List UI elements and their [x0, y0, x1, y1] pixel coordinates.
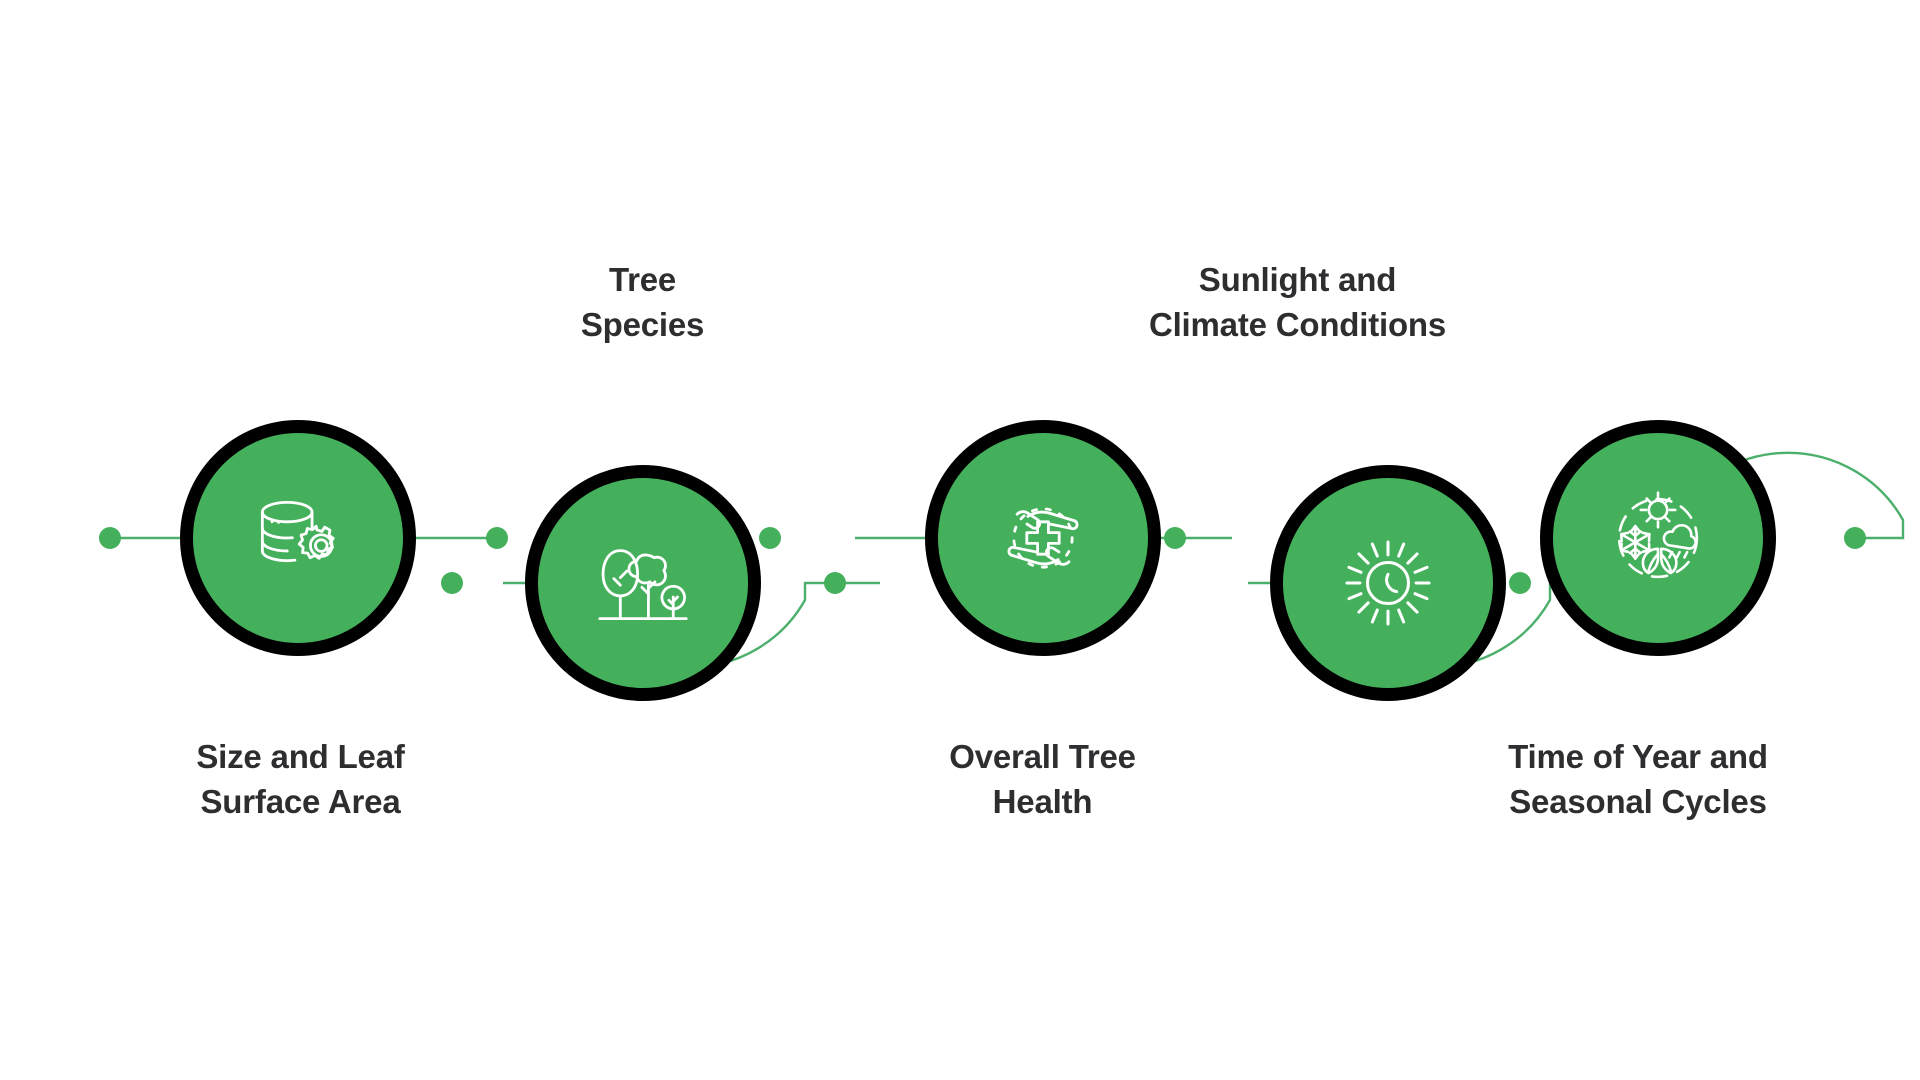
caring-hands-health-icon [989, 484, 1097, 592]
step-node-1[interactable] [180, 420, 416, 656]
trees-icon [589, 529, 697, 637]
database-gear-icon [244, 484, 352, 592]
infographic-canvas: Size and Leaf Surface Area Tree Specie [0, 0, 1920, 1080]
sun-icon [1334, 529, 1442, 637]
connector-dot-2-upper [759, 527, 781, 549]
step-node-5[interactable] [1540, 420, 1776, 656]
step-node-4[interactable] [1270, 465, 1506, 701]
step-node-2[interactable] [525, 465, 761, 701]
connector-dot-4-lower [1509, 572, 1531, 594]
step-label-5: Time of Year and Seasonal Cycles [1438, 735, 1838, 825]
step-label-4: Sunlight and Climate Conditions [1090, 258, 1505, 348]
connector-dot-1-lower [441, 572, 463, 594]
connector-dot-start [99, 527, 121, 549]
step-label-1: Size and Leaf Surface Area [118, 735, 483, 825]
connector-dot-end [1844, 527, 1866, 549]
step-label-3: Overall Tree Health [870, 735, 1215, 825]
connector-dot-2-lower [824, 572, 846, 594]
step-node-3[interactable] [925, 420, 1161, 656]
connector-dot-3-upper [1164, 527, 1186, 549]
step-label-2: Tree Species [470, 258, 815, 348]
connector-dot-1-upper [486, 527, 508, 549]
four-seasons-icon [1604, 484, 1712, 592]
